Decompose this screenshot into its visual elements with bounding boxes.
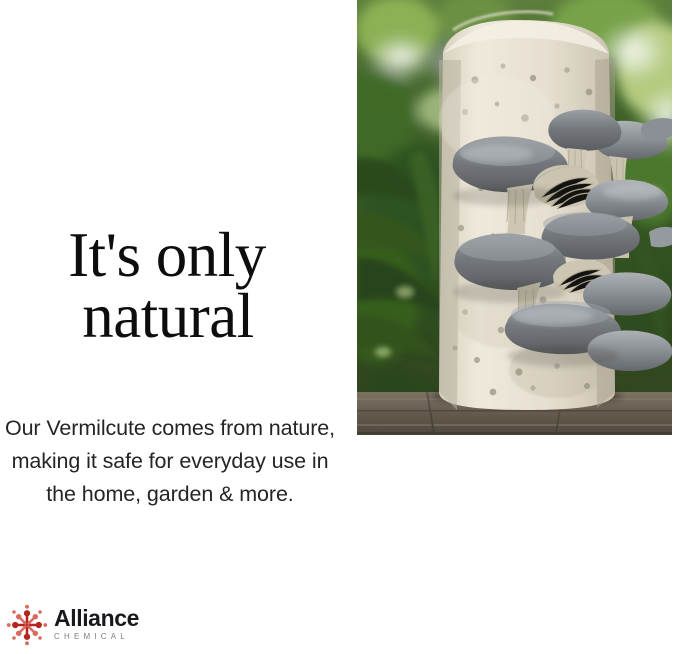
headline-line-2: natural <box>0 286 340 347</box>
headline-line-1: It's only <box>0 225 340 286</box>
logo-wordmark: Alliance CHEMICAL <box>54 607 139 643</box>
brand-logo: Alliance CHEMICAL <box>6 604 139 646</box>
body-copy: Our Vermilcute comes from nature, making… <box>4 412 336 511</box>
molecule-burst-icon <box>6 604 48 646</box>
page-headline: It's only natural <box>0 225 340 347</box>
left-content-panel: It's only natural Our Vermilcute comes f… <box>0 0 340 654</box>
oyster-mushroom-grow-bag-photo <box>357 0 672 435</box>
logo-brand-name: Alliance <box>54 607 139 630</box>
logo-brand-subtitle: CHEMICAL <box>54 632 139 642</box>
